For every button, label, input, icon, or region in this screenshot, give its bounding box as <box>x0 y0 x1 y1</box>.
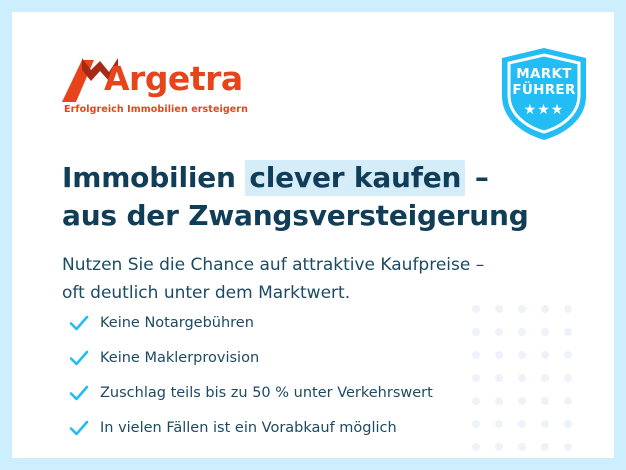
argetra-logo: Argetra Erfolgreich Immobilien ersteiger… <box>62 54 262 104</box>
dot <box>541 420 549 428</box>
subheading: Nutzen Sie die Chance auf attraktive Kau… <box>62 251 562 307</box>
dot <box>564 397 572 405</box>
benefit-list: Keine NotargebührenKeine Maklerprovision… <box>68 308 528 448</box>
dot <box>541 374 549 382</box>
list-item-label: Keine Notargebühren <box>100 313 254 333</box>
list-item-label: Keine Maklerprovision <box>100 348 259 368</box>
dot <box>564 351 572 359</box>
headline: Immobilien clever kaufen – aus der Zwang… <box>62 159 532 235</box>
headline-line-1: Immobilien clever kaufen – <box>62 159 532 197</box>
list-item: Keine Maklerprovision <box>68 343 528 373</box>
badge-text: MARKT FÜHRER <box>498 66 590 98</box>
dot <box>541 443 549 451</box>
dot <box>564 305 572 313</box>
dot <box>541 328 549 336</box>
headline-text-before: Immobilien <box>62 161 245 194</box>
logo-row: Argetra <box>62 54 262 104</box>
dot <box>541 351 549 359</box>
list-item: Zuschlag teils bis zu 50 % unter Verkehr… <box>68 378 528 408</box>
check-icon <box>68 347 100 369</box>
dot <box>564 374 572 382</box>
list-item-label: In vielen Fällen ist ein Vorabkauf mögli… <box>100 418 397 438</box>
list-item-label: Zuschlag teils bis zu 50 % unter Verkehr… <box>100 383 433 403</box>
subheading-line-1: Nutzen Sie die Chance auf attraktive Kau… <box>62 251 562 279</box>
list-item: In vielen Fällen ist ein Vorabkauf mögli… <box>68 413 528 443</box>
list-item: Keine Notargebühren <box>68 308 528 338</box>
check-icon <box>68 382 100 404</box>
banner-canvas: Argetra Erfolgreich Immobilien ersteiger… <box>12 12 614 458</box>
headline-text-after: – <box>465 161 488 194</box>
headline-line-2: aus der Zwangsversteigerung <box>62 197 532 235</box>
logo-wordmark: Argetra <box>104 58 243 100</box>
promo-banner: Argetra Erfolgreich Immobilien ersteiger… <box>0 0 626 470</box>
dot <box>564 420 572 428</box>
dot <box>564 328 572 336</box>
logo-tagline: Erfolgreich Immobilien ersteigern <box>64 104 248 115</box>
check-icon <box>68 417 100 439</box>
badge-line-1: MARKT <box>516 66 571 82</box>
headline-highlight: clever kaufen <box>245 160 465 196</box>
badge-line-2: FÜHRER <box>512 82 575 98</box>
badge-stars: ★★★ <box>498 102 590 116</box>
subheading-line-2: oft deutlich unter dem Marktwert. <box>62 279 562 307</box>
market-leader-badge: MARKT FÜHRER ★★★ <box>498 46 590 142</box>
dot <box>541 397 549 405</box>
check-icon <box>68 312 100 334</box>
dot <box>564 443 572 451</box>
